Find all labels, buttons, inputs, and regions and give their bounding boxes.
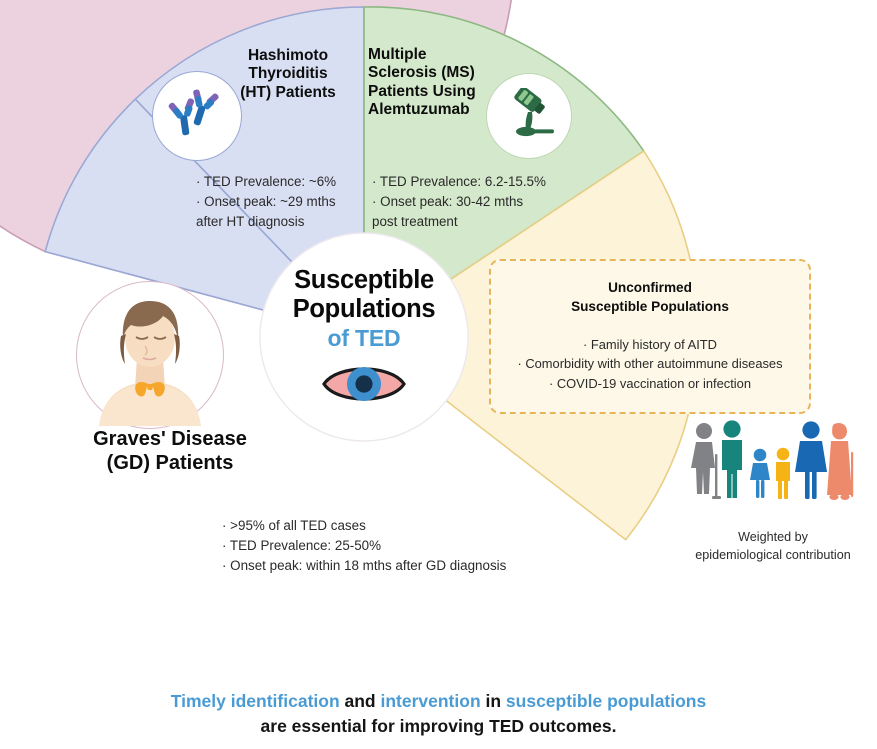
unconfirmed-bullets: · Family history of AITD · Comorbidity w… <box>491 335 809 394</box>
footer-plain-2: in <box>481 691 506 711</box>
unconfirmed-populations-box[interactable]: Unconfirmed Susceptible Populations · Fa… <box>489 259 811 414</box>
antibody-icon <box>166 87 228 145</box>
medicine-bottle-spoon-icon <box>500 88 558 144</box>
eye-icon <box>321 360 407 408</box>
center-line1: Susceptible <box>254 266 474 295</box>
girl-child-figure <box>750 449 770 498</box>
footer-line1: Timely identification and intervention i… <box>0 689 877 714</box>
list-item: · Onset peak: within 18 mths after GD di… <box>222 556 582 576</box>
hashimoto-title-line1: Hashimoto <box>218 47 358 65</box>
unconfirmed-title-line1: Unconfirmed <box>491 278 809 297</box>
people-caption: Weighted by epidemiological contribution <box>678 528 868 565</box>
footer-highlight-1: Timely identification <box>171 691 340 711</box>
adult-man-figure <box>722 420 742 498</box>
graves-disease-bullets: · >95% of all TED cases · TED Prevalence… <box>222 516 582 575</box>
ms-title-line2: Sclerosis (MS) <box>368 64 498 82</box>
footer-line2: are essential for improving TED outcomes… <box>0 714 877 739</box>
multiple-sclerosis-title: Multiple Sclerosis (MS) Patients Using A… <box>368 46 498 119</box>
list-item: · Onset peak: 30-42 mths <box>372 192 552 212</box>
list-item: · TED Prevalence: ~6% <box>196 172 356 192</box>
elder-woman-cane-figure <box>827 423 853 500</box>
footer-plain-1: and <box>340 691 381 711</box>
woman-thyroid-icon-bubble <box>76 281 224 429</box>
unconfirmed-title: Unconfirmed Susceptible Populations <box>491 278 809 317</box>
list-item: post treatment <box>372 212 552 232</box>
population-figures-icon <box>688 418 854 510</box>
center-label-group: Susceptible Populations of TED <box>254 266 474 408</box>
list-item: · Onset peak: ~29 mths <box>196 192 356 212</box>
ms-title-line1: Multiple <box>368 46 498 64</box>
hashimoto-title-line2: Thyroiditis <box>218 65 358 83</box>
list-item: · Family history of AITD <box>491 335 809 355</box>
unconfirmed-title-line2: Susceptible Populations <box>491 297 809 316</box>
medicine-bottle-icon-bubble <box>486 73 572 159</box>
graves-disease-title: Graves' Disease (GD) Patients <box>55 428 285 475</box>
people-figures-group <box>688 418 854 515</box>
antibody-icon-bubble <box>152 71 242 161</box>
elder-man-cane-figure <box>691 423 721 499</box>
woman-thyroid-icon <box>79 284 221 426</box>
center-line2: Populations <box>254 295 474 324</box>
list-item: · COVID-19 vaccination or infection <box>491 374 809 394</box>
people-caption-line2: epidemiological contribution <box>678 546 868 564</box>
footer-highlight-3: susceptible populations <box>506 691 706 711</box>
boy-child-figure <box>776 448 790 499</box>
list-item: · >95% of all TED cases <box>222 516 582 536</box>
gd-title-line2: (GD) Patients <box>55 452 285 476</box>
list-item: · TED Prevalence: 6.2-15.5% <box>372 172 552 192</box>
adult-woman-figure <box>795 421 827 499</box>
multiple-sclerosis-bullets: · TED Prevalence: 6.2-15.5% · Onset peak… <box>372 172 552 231</box>
hashimoto-bullets: · TED Prevalence: ~6% · Onset peak: ~29 … <box>196 172 356 231</box>
center-line3: of TED <box>254 324 474 354</box>
list-item: · Comorbidity with other autoimmune dise… <box>491 354 809 374</box>
ms-title-line4: Alemtuzumab <box>368 101 498 119</box>
hashimoto-title: Hashimoto Thyroiditis (HT) Patients <box>218 47 358 102</box>
list-item: after HT diagnosis <box>196 212 356 232</box>
ms-title-line3: Patients Using <box>368 83 498 101</box>
gd-title-line1: Graves' Disease <box>55 428 285 452</box>
list-item: · TED Prevalence: 25-50% <box>222 536 582 556</box>
footer-highlight-2: intervention <box>380 691 480 711</box>
people-caption-line1: Weighted by <box>678 528 868 546</box>
footer-caption: Timely identification and intervention i… <box>0 689 877 739</box>
